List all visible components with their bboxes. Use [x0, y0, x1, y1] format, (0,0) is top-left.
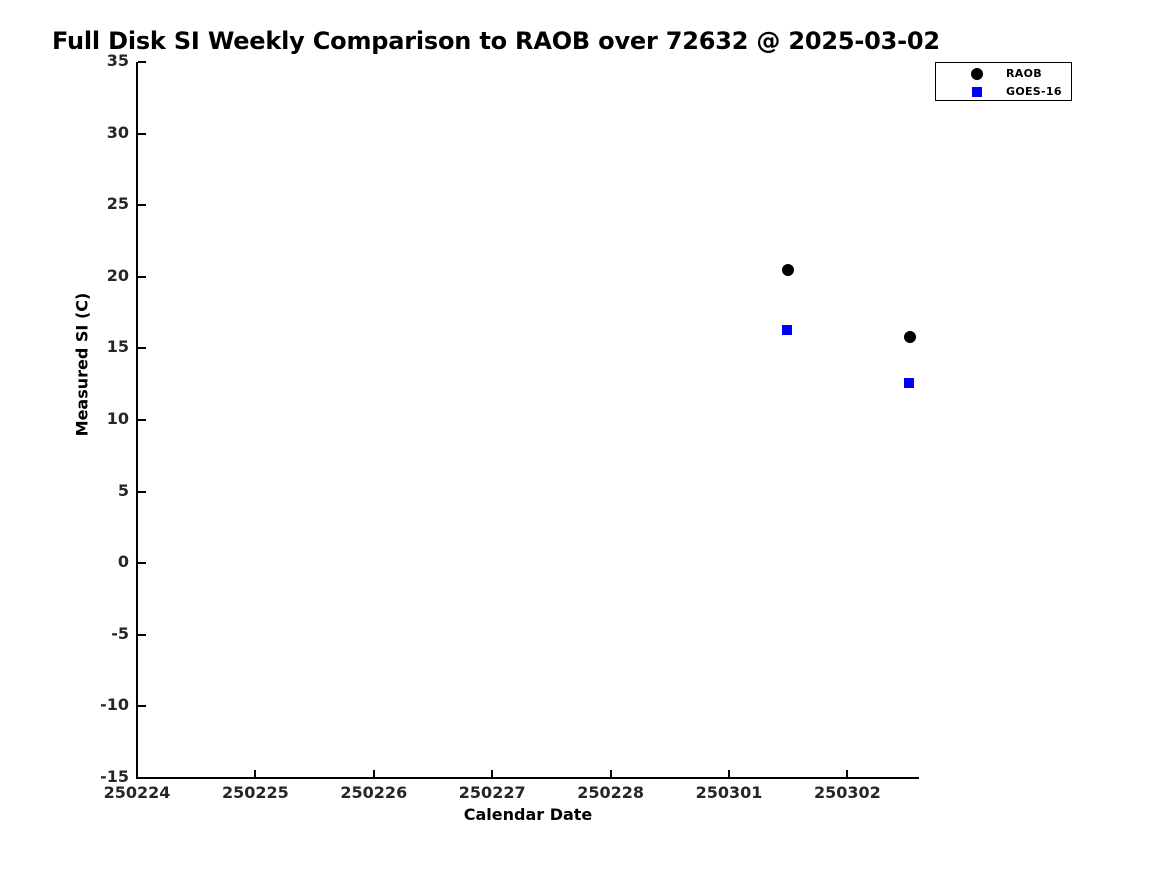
y-tick-label: 0 — [118, 552, 129, 571]
legend-label: RAOB — [1006, 67, 1042, 80]
y-tick-mark — [138, 562, 146, 564]
y-tick-label: 30 — [107, 123, 129, 142]
y-tick-mark — [138, 491, 146, 493]
y-tick-label: 5 — [118, 481, 129, 500]
x-tick-mark — [846, 770, 848, 778]
y-tick-mark — [138, 276, 146, 278]
y-tick-mark — [138, 204, 146, 206]
square-marker-icon — [966, 83, 988, 101]
square-marker-icon-glyph — [972, 87, 982, 97]
circle-marker-icon — [966, 65, 988, 83]
legend-item-goes-16[interactable]: GOES-16 — [936, 83, 1071, 101]
legend-label: GOES-16 — [1006, 85, 1062, 98]
x-tick-mark — [610, 770, 612, 778]
y-tick-mark — [138, 133, 146, 135]
x-tick-label: 250301 — [696, 783, 763, 802]
x-tick-label: 250228 — [577, 783, 644, 802]
x-tick-label: 250224 — [104, 783, 171, 802]
y-tick-label: 25 — [107, 194, 129, 213]
y-tick-mark — [138, 634, 146, 636]
legend-box: RAOBGOES-16 — [935, 62, 1072, 101]
data-point-goes-16 — [904, 378, 914, 388]
y-tick-mark — [138, 777, 146, 779]
x-tick-label: 250227 — [459, 783, 526, 802]
x-tick-label: 250302 — [814, 783, 881, 802]
page-title: Full Disk SI Weekly Comparison to RAOB o… — [52, 27, 940, 55]
y-tick-label: 35 — [107, 51, 129, 70]
y-tick-label: -10 — [100, 695, 129, 714]
data-point-goes-16 — [782, 325, 792, 335]
y-axis-label: Measured SI (C) — [73, 275, 92, 455]
x-axis-label: Calendar Date — [0, 805, 1056, 824]
x-tick-mark — [491, 770, 493, 778]
x-tick-mark — [373, 770, 375, 778]
y-tick-label: 10 — [107, 409, 129, 428]
y-tick-mark — [138, 347, 146, 349]
y-tick-label: 20 — [107, 266, 129, 285]
x-tick-mark — [728, 770, 730, 778]
legend-item-raob[interactable]: RAOB — [936, 65, 1071, 83]
y-tick-mark — [138, 705, 146, 707]
circle-marker-icon-glyph — [971, 68, 983, 80]
figure-canvas: Full Disk SI Weekly Comparison to RAOB o… — [0, 0, 1167, 875]
y-tick-label: -5 — [111, 624, 129, 643]
x-tick-mark — [254, 770, 256, 778]
y-tick-mark — [138, 61, 146, 63]
x-tick-label: 250226 — [340, 783, 407, 802]
y-tick-mark — [138, 419, 146, 421]
x-tick-label: 250225 — [222, 783, 289, 802]
data-point-raob — [904, 331, 916, 343]
data-point-raob — [782, 264, 794, 276]
y-tick-label: 15 — [107, 337, 129, 356]
